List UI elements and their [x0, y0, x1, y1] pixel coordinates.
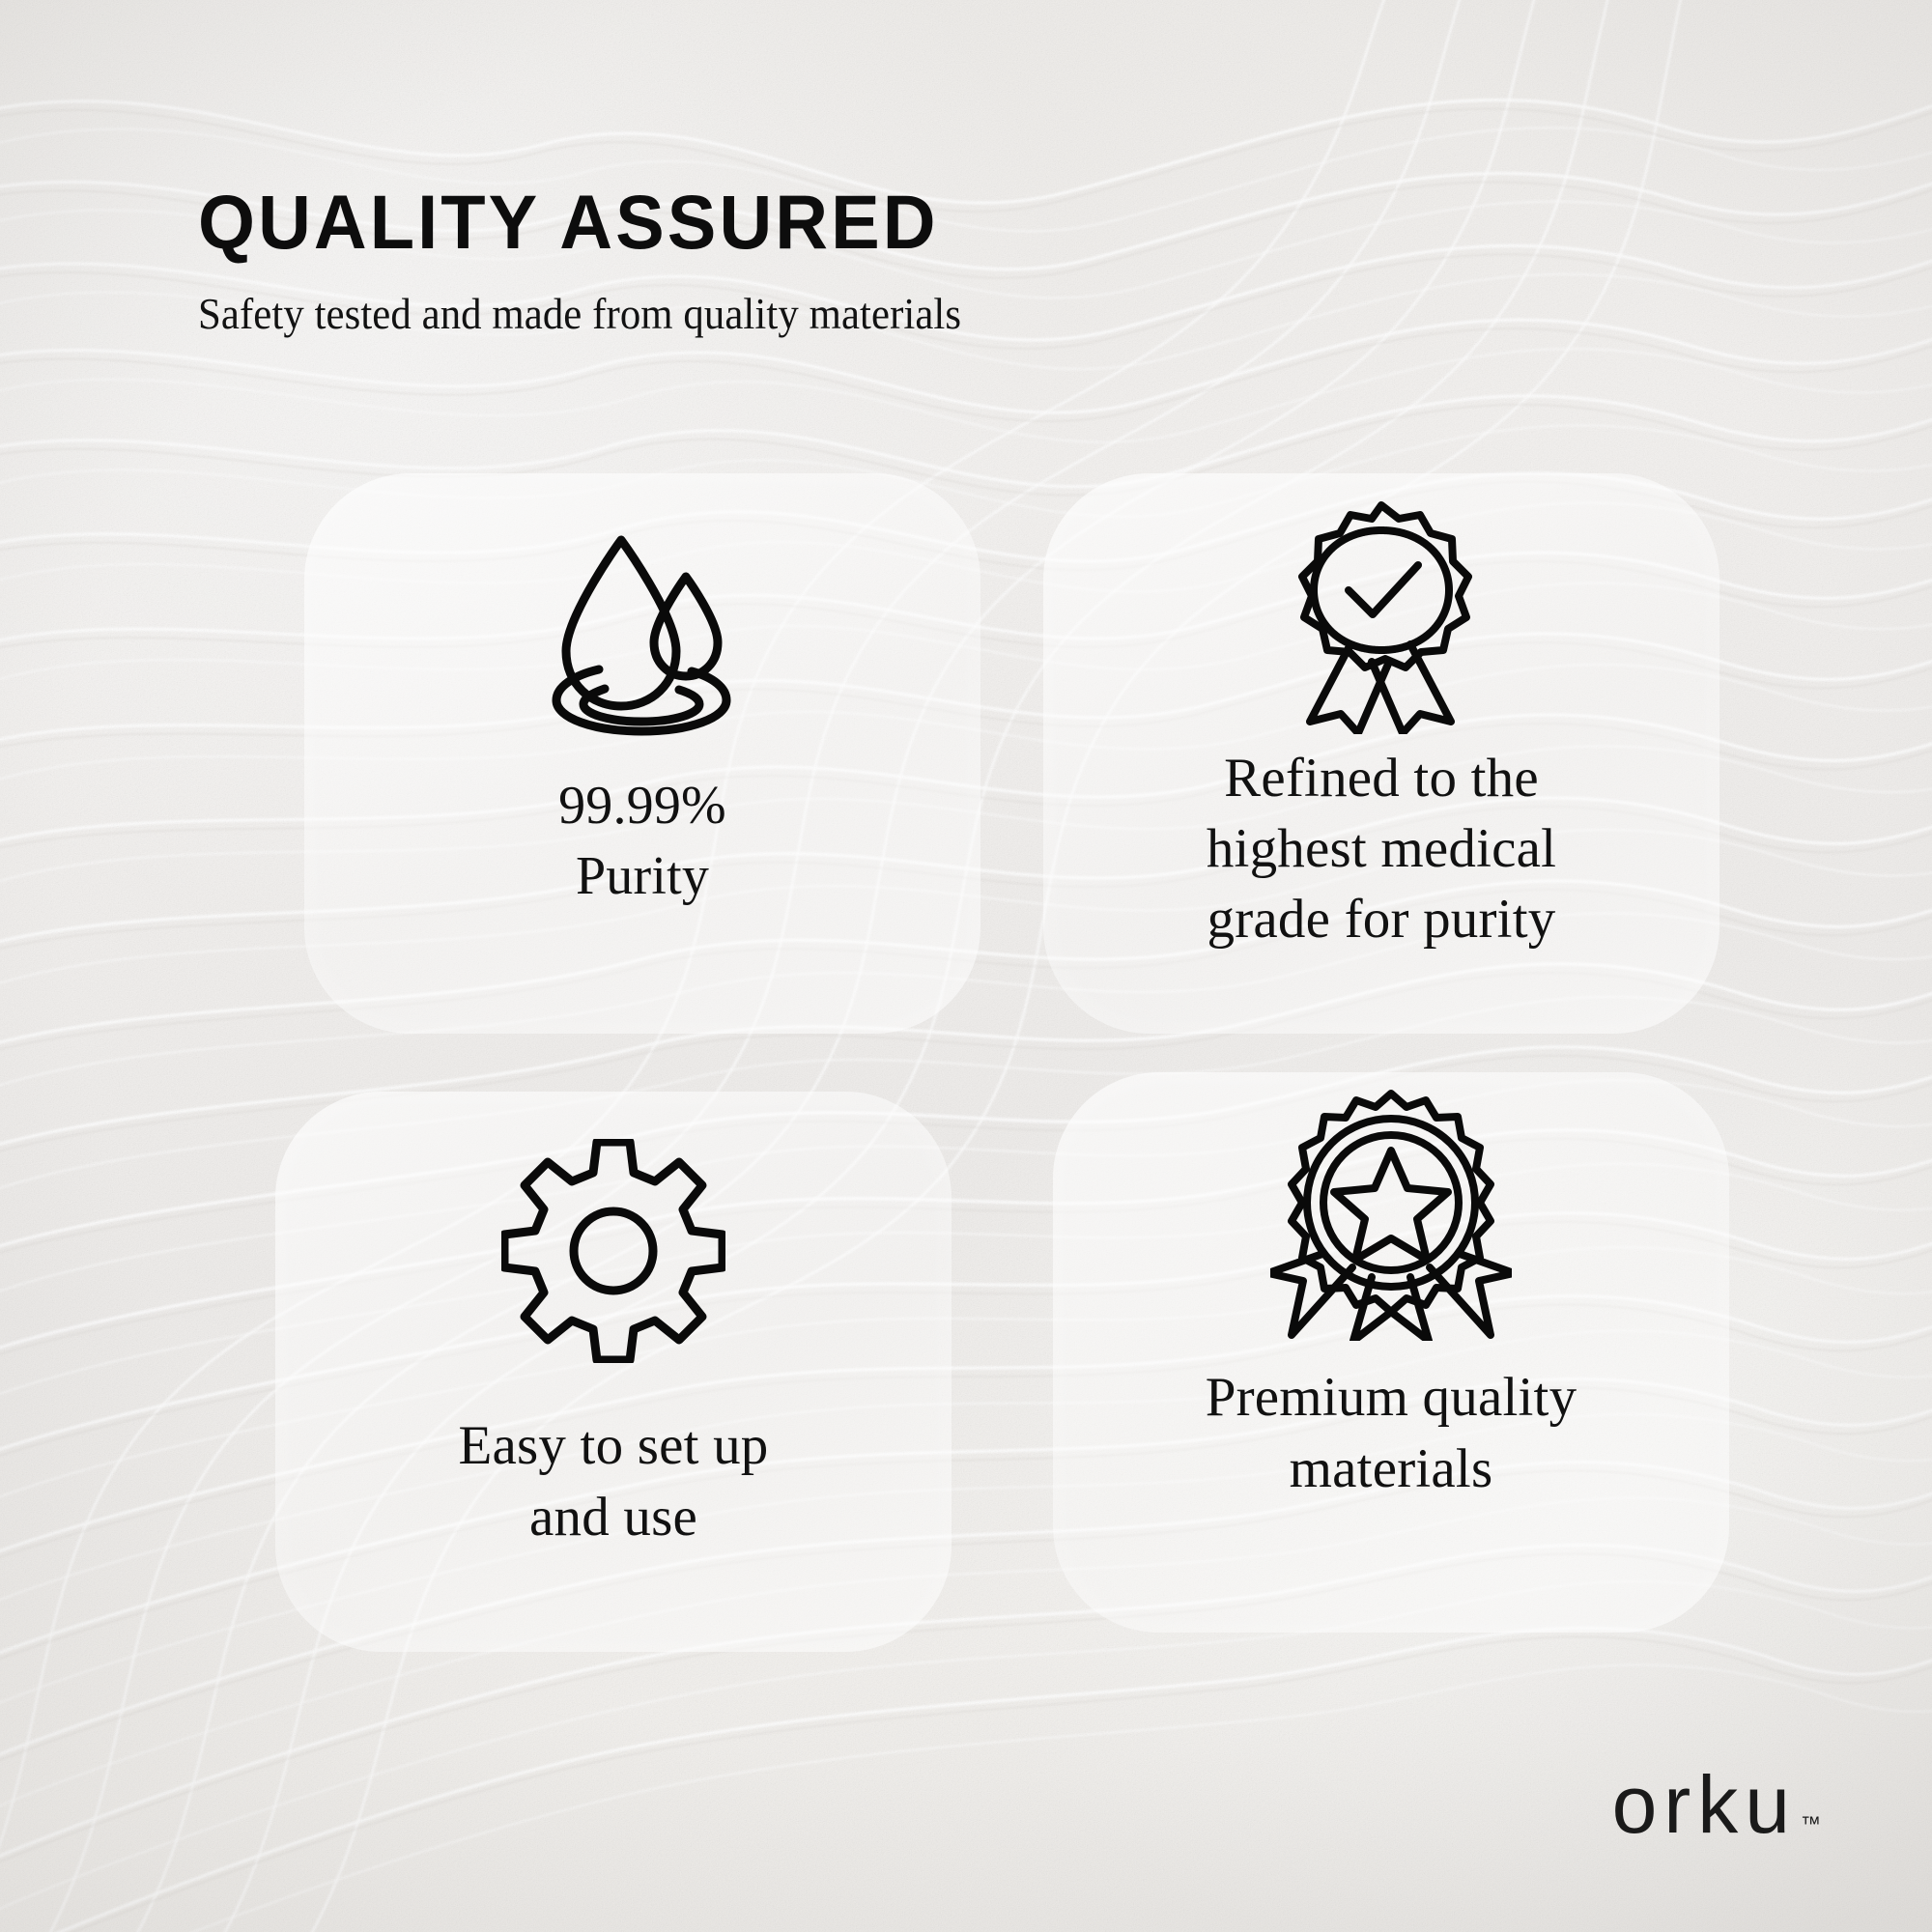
poster-canvas: QUALITY ASSURED Safety tested and made f…: [0, 0, 1932, 1932]
feature-card-easy-setup: Easy to set up and use: [275, 1092, 952, 1652]
star-medal-ribbon-icon: [1053, 1094, 1729, 1335]
feature-card-medical-grade: Refined to the highest medical grade for…: [1043, 473, 1719, 1034]
feature-line-2: and use: [314, 1482, 913, 1553]
feature-line-2: materials: [1092, 1434, 1690, 1505]
feature-line-1: 99.99%: [343, 771, 942, 841]
feature-card-text: Refined to the highest medical grade for…: [1043, 744, 1719, 955]
badge-check-ribbon-icon: [1043, 495, 1719, 736]
feature-line-1: Easy to set up: [314, 1410, 913, 1482]
feature-card-grid: 99.99% Purity Refined t: [198, 473, 1739, 1652]
feature-card-text: Easy to set up and use: [275, 1410, 952, 1553]
feature-line-1: Premium quality: [1092, 1362, 1690, 1434]
feature-line-2: highest medical: [1082, 814, 1681, 885]
brand-logo-wordmark: orku: [1612, 1764, 1797, 1845]
water-droplet-icon: [304, 512, 980, 753]
feature-card-text: Premium quality materials: [1053, 1362, 1729, 1505]
trademark-symbol: ™: [1801, 1813, 1821, 1836]
page-title: QUALITY ASSURED: [198, 184, 1404, 260]
header-block: QUALITY ASSURED Safety tested and made f…: [198, 184, 1454, 339]
feature-card-purity: 99.99% Purity: [304, 473, 980, 1034]
feature-card-premium-materials: Premium quality materials: [1053, 1072, 1729, 1633]
feature-line-1: Refined to the: [1082, 744, 1681, 814]
page-subtitle: Safety tested and made from quality mate…: [198, 289, 1391, 339]
feature-line-2: Purity: [343, 841, 942, 912]
gear-icon: [275, 1130, 952, 1372]
brand-logo: orku ™: [1612, 1764, 1821, 1845]
feature-line-3: grade for purity: [1082, 885, 1681, 955]
feature-card-text: 99.99% Purity: [304, 771, 980, 912]
